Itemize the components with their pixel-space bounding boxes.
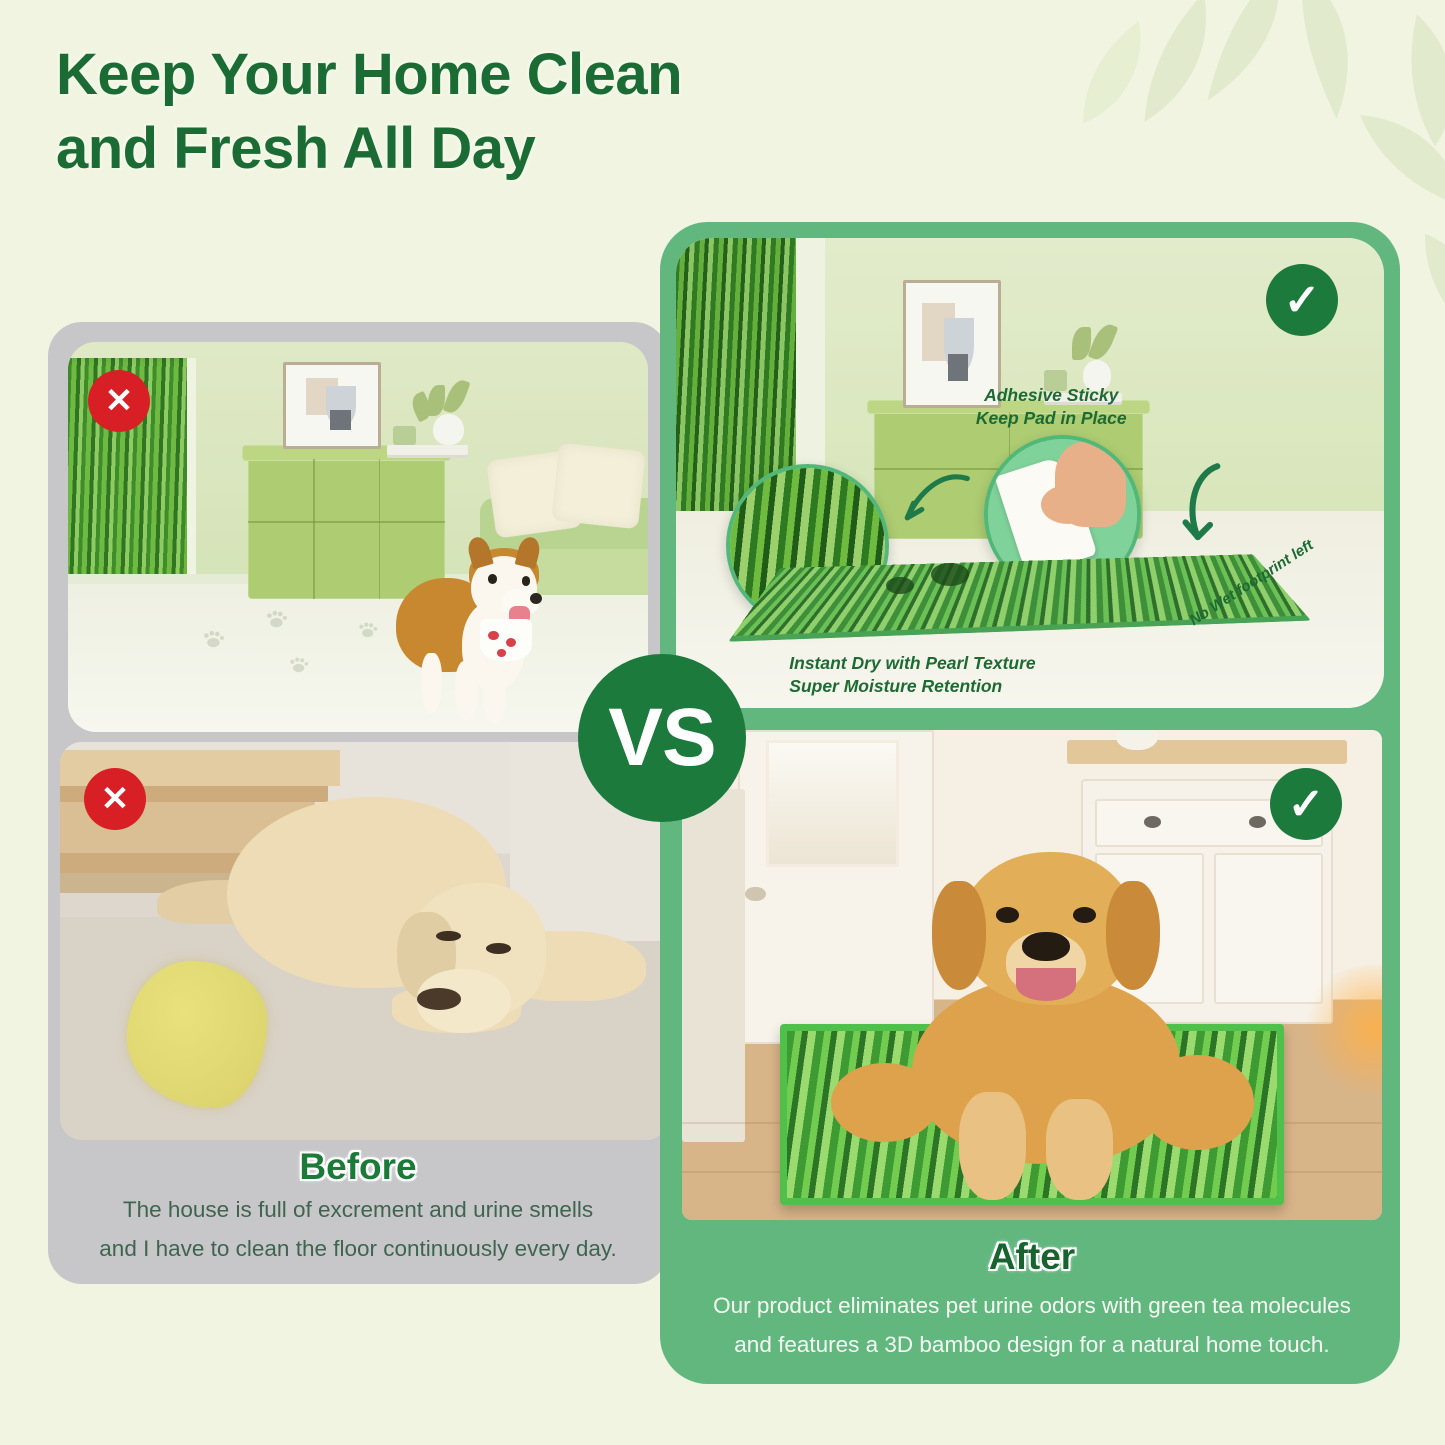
retriever-dog <box>157 778 656 1096</box>
glass-cup <box>393 426 416 446</box>
dog-side-fur-right <box>1140 1055 1254 1149</box>
after-title: After <box>682 1236 1382 1278</box>
close-icon: ✕ <box>101 779 130 819</box>
vs-label: VS <box>608 691 715 785</box>
vs-badge: VS <box>578 654 746 822</box>
sofa-pillow-2 <box>551 443 646 530</box>
arrow-to-pad-right <box>1115 454 1271 576</box>
cabinet-seam-v2 <box>379 459 381 599</box>
drawer-knob-1 <box>1144 816 1161 828</box>
dog-ear-left <box>932 881 986 990</box>
hallway-scene <box>60 742 668 1140</box>
bandana-berry-3 <box>497 649 506 656</box>
corgi-dog <box>393 537 567 724</box>
art-shape-3 <box>948 354 968 381</box>
dog-eye-left <box>488 574 497 583</box>
cabinet-door-right <box>1214 853 1323 1004</box>
books <box>387 445 468 454</box>
instant-dry-annotation: Instant Dry with Pearl Texture Super Moi… <box>789 652 1035 699</box>
before-description: The house is full of excrement and urine… <box>60 1190 656 1269</box>
dog-tongue <box>1016 968 1076 1001</box>
thumb-icon <box>1041 485 1095 524</box>
check-icon: ✓ <box>1284 275 1321 326</box>
after-description: Our product eliminates pet urine odors w… <box>682 1286 1382 1365</box>
adhesive-annotation: Adhesive Sticky Keep Pad in Place <box>903 384 1200 431</box>
x-badge-top: ✕ <box>88 370 150 432</box>
urine-puddle-photo: ✕ <box>60 742 668 1140</box>
check-badge-top: ✓ <box>1266 264 1338 336</box>
cabinet-seam-v1 <box>313 459 315 599</box>
paw-print-3 <box>283 654 314 675</box>
dog-eye-right <box>522 576 531 585</box>
dog-ear-right <box>515 535 542 569</box>
pad-feature-photo: Adhesive Sticky Keep Pad in Place <box>676 238 1384 708</box>
vase <box>433 414 463 445</box>
retriever-dog <box>878 838 1214 1201</box>
dog-front-leg-1 <box>292 918 392 969</box>
dog-front-leg-left <box>959 1092 1026 1201</box>
cabinet-seam-h <box>248 521 445 523</box>
dog-on-pad-photo: ✓ <box>682 730 1382 1220</box>
paw-print-1 <box>196 627 231 650</box>
cabinet-shelf <box>1067 740 1347 765</box>
drawer-knob-2 <box>1249 816 1266 828</box>
page-title: Keep Your Home Clean and Fresh All Day <box>56 38 876 186</box>
close-icon: ✕ <box>105 381 134 421</box>
dog-side-fur <box>831 1063 939 1143</box>
before-title: Before <box>60 1146 656 1188</box>
wall-art <box>283 362 382 450</box>
dog-nose <box>1022 932 1069 961</box>
check-icon: ✓ <box>1288 779 1325 830</box>
dog-nose <box>530 593 542 604</box>
paw-print-2 <box>259 607 294 630</box>
dog-eye-right <box>1073 907 1097 923</box>
paw-print-4 <box>352 619 383 640</box>
arrow-to-pad-left <box>846 464 1002 567</box>
dirty-room-photo: ✕ <box>68 342 648 732</box>
check-badge-bottom: ✓ <box>1270 768 1342 840</box>
dog-nose <box>417 988 462 1010</box>
bandana-berry-1 <box>488 631 498 640</box>
x-badge-bottom: ✕ <box>84 768 146 830</box>
dog-ear-right <box>1106 881 1160 990</box>
dog-leg-1 <box>421 653 442 713</box>
dog-eye-left <box>996 907 1020 923</box>
room-scene <box>68 342 648 732</box>
side-furniture <box>682 789 745 1142</box>
art-shape-3 <box>330 410 350 430</box>
dog-front-leg-right <box>1046 1099 1113 1201</box>
